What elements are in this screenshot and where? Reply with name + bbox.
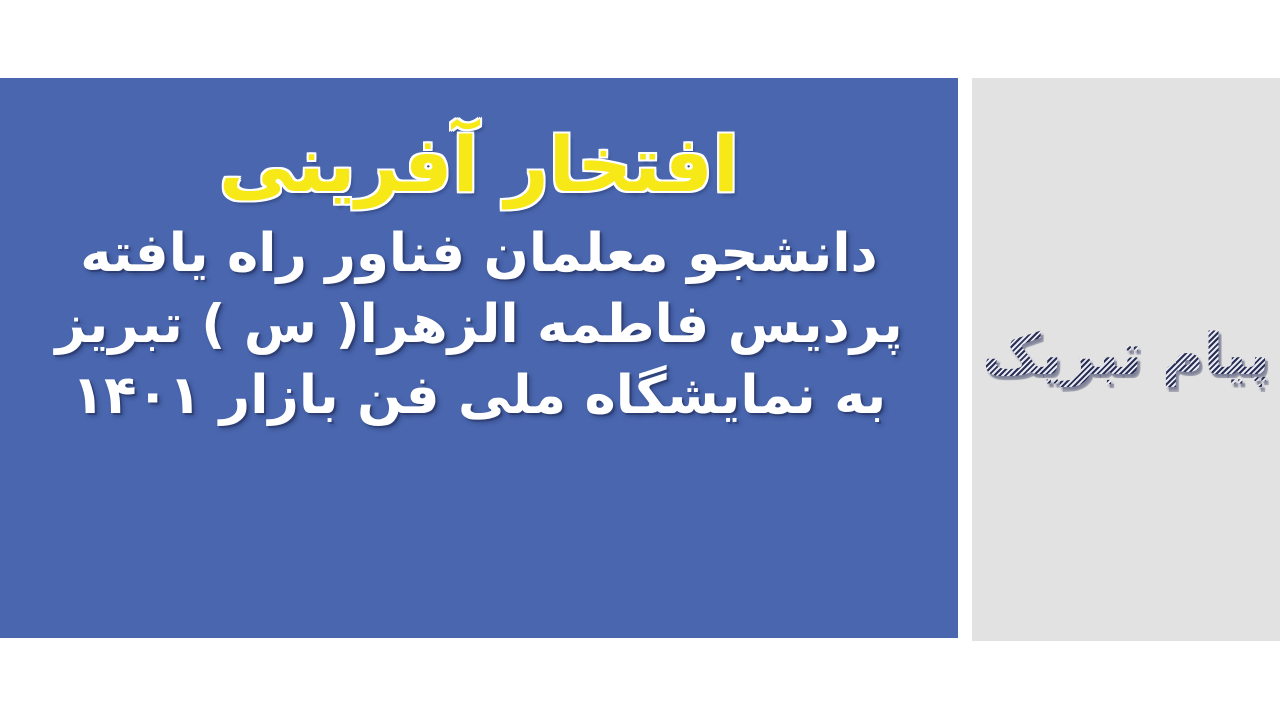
- body-line-3: به نمایشگاه ملی فن بازار ۱۴۰۱: [0, 360, 958, 431]
- slide-headline: افتخار آفرینی: [29, 126, 930, 204]
- side-title-wrap: پیام تبریک پیام تبریک: [982, 324, 1270, 387]
- main-content-panel: افتخار آفرینی دانشجو معلمان فناور راه یا…: [0, 78, 958, 638]
- body-text-block: دانشجو معلمان فناور راه یافته پردیس فاطم…: [0, 218, 958, 431]
- side-panel: پیام تبریک پیام تبریک: [972, 78, 1280, 641]
- side-panel-title: پیام تبریک: [982, 324, 1270, 387]
- headline-block: افتخار آفرینی: [29, 126, 930, 204]
- slide-canvas: افتخار آفرینی دانشجو معلمان فناور راه یا…: [0, 0, 1280, 720]
- body-line-1: دانشجو معلمان فناور راه یافته: [0, 218, 958, 289]
- body-line-2: پردیس فاطمه الزهرا( س ) تبریز: [0, 289, 958, 360]
